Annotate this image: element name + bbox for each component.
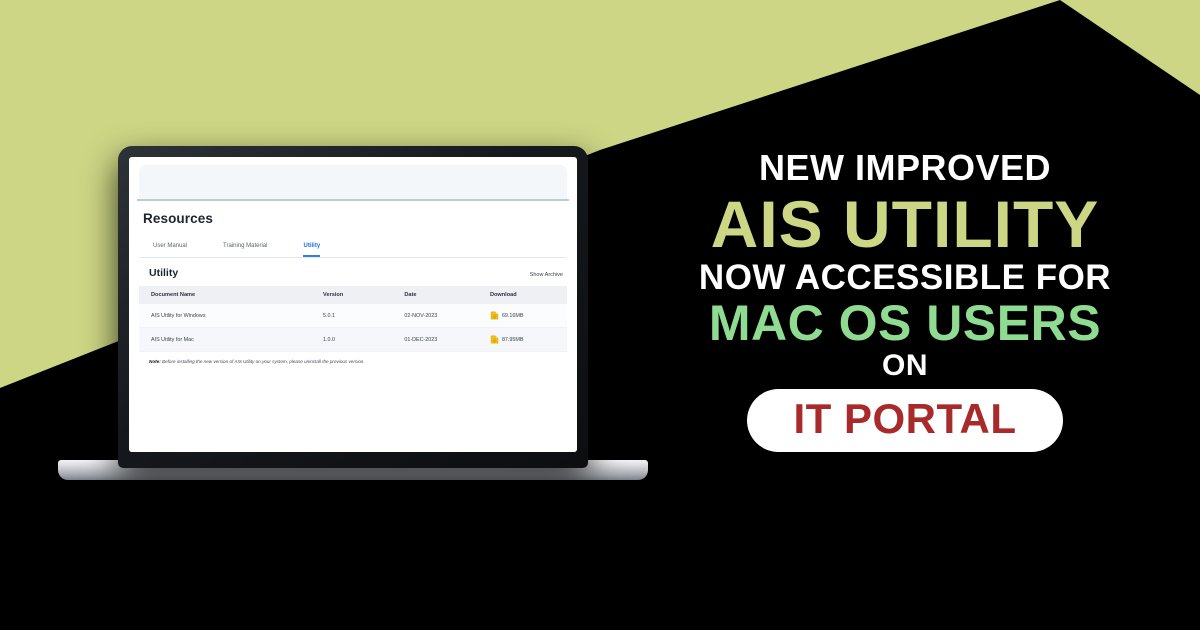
- headline-block: NEW IMPROVED AIS UTILITY NOW ACCESSIBLE …: [660, 150, 1150, 452]
- laptop-mockup: Resources User Manual Training Material …: [118, 146, 588, 476]
- promo-banner: Resources User Manual Training Material …: [0, 0, 1200, 630]
- installation-note: Note: Before installing the new version …: [139, 352, 567, 374]
- file-lock-icon: [490, 335, 499, 344]
- show-archive-link[interactable]: Show Archive: [530, 272, 563, 278]
- cell-date: 02-NOV-2023: [404, 304, 490, 328]
- cell-download[interactable]: 69.16MB: [490, 304, 567, 328]
- page-divider: [137, 199, 569, 201]
- headline-line-ais-utility: AIS UTILITY: [660, 191, 1150, 258]
- laptop-screen: Resources User Manual Training Material …: [129, 157, 577, 452]
- note-text: Before installing the new version of AIS…: [162, 359, 365, 364]
- it-portal-label: IT PORTAL: [793, 398, 1016, 440]
- headline-line-now-accessible: NOW ACCESSIBLE FOR: [660, 260, 1150, 296]
- table-row[interactable]: AIS Utility for Windows 5.0.1 02-NOV-202…: [139, 304, 567, 328]
- headline-line-mac-os-users: MAC OS USERS: [660, 298, 1150, 349]
- cell-document-name: AIS Utility for Mac: [139, 328, 323, 352]
- section-title: Utility: [149, 267, 178, 279]
- table-row[interactable]: AIS Utility for Mac 1.0.0 01-DEC-2023: [139, 328, 567, 352]
- tab-user-manual[interactable]: User Manual: [153, 243, 187, 257]
- it-portal-page: Resources User Manual Training Material …: [129, 165, 577, 452]
- cell-document-name: AIS Utility for Windows: [139, 304, 323, 328]
- resources-tabs: User Manual Training Material Utility: [139, 233, 567, 258]
- utility-section-header: Utility Show Archive: [139, 258, 567, 286]
- table-body: AIS Utility for Windows 5.0.1 02-NOV-202…: [139, 304, 567, 352]
- note-label: Note:: [149, 359, 161, 364]
- tab-training-material[interactable]: Training Material: [223, 243, 267, 257]
- cell-version: 5.0.1: [323, 304, 404, 328]
- file-lock-icon: [490, 311, 499, 320]
- utility-table: Document Name Version Date Download AIS …: [139, 286, 567, 352]
- resources-card: User Manual Training Material Utility Ut…: [139, 233, 567, 374]
- headline-line-new-improved: NEW IMPROVED: [660, 150, 1150, 187]
- column-date: Date: [404, 286, 490, 304]
- column-document-name: Document Name: [139, 286, 323, 304]
- download-size: 69.16MB: [502, 313, 524, 319]
- column-version: Version: [323, 286, 404, 304]
- cell-date: 01-DEC-2023: [404, 328, 490, 352]
- laptop-lid: Resources User Manual Training Material …: [118, 146, 588, 468]
- it-portal-badge[interactable]: IT PORTAL: [747, 389, 1062, 452]
- page-topbar: [139, 165, 567, 199]
- column-download: Download: [490, 286, 567, 304]
- page-title: Resources: [143, 211, 577, 226]
- cell-version: 1.0.0: [323, 328, 404, 352]
- table-header-row: Document Name Version Date Download: [139, 286, 567, 304]
- table-header: Document Name Version Date Download: [139, 286, 567, 304]
- download-size: 87.95MB: [502, 337, 524, 343]
- tab-utility[interactable]: Utility: [303, 243, 320, 257]
- headline-line-on: ON: [660, 351, 1150, 382]
- cell-download[interactable]: 87.95MB: [490, 328, 567, 352]
